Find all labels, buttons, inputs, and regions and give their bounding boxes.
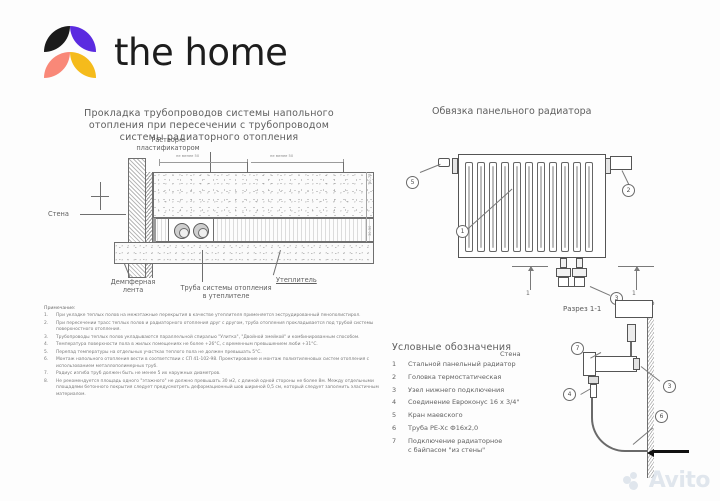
note-number: 8. (44, 379, 51, 398)
legend-item: 7 Подключение радиаторное с байпасом "из… (392, 437, 567, 456)
note-text: Перепад температуры на отдельных участка… (56, 350, 389, 356)
dim-v-text-1: 50-70 (368, 174, 373, 184)
detail-valve-nut (633, 358, 640, 370)
damper-tape-label: Демпферная лента (94, 278, 172, 294)
avito-watermark: Avito (623, 468, 710, 493)
note-text: Трубопроводы теплых полов укладываются п… (56, 335, 389, 341)
detail-valve-body (593, 356, 637, 372)
note-item: 1. При укладке теплых полов на межэтажны… (44, 313, 389, 319)
detail-pe-xc-pipe (591, 398, 647, 452)
legend-text: Стальной панельный радиатор (408, 360, 567, 370)
insulation-label: Утеплитель (276, 276, 317, 284)
legend-number: 7 (392, 437, 399, 456)
legend-number: 2 (392, 373, 399, 383)
supply-stub-left (560, 258, 567, 268)
legend-item: 3 Узел нижнего подключения (392, 386, 567, 396)
floor-heating-section-drawing: Раствор с пластификатором Стена не менее… (44, 100, 374, 310)
legend-item: 1 Стальной панельный радиатор (392, 360, 567, 370)
flow-direction-arrow (653, 450, 689, 453)
callout-bubble-2: 2 (622, 184, 635, 197)
section-cut-bar-left (512, 266, 548, 267)
dim-tick-1 (159, 159, 160, 166)
radiator-fin (477, 162, 485, 252)
notes-block: Примечание: 1. При укладке теплых полов … (44, 306, 389, 399)
note-item: 5. Перепад температуры на отдельных учас… (44, 350, 389, 356)
the-home-logo-icon (44, 26, 96, 78)
radiator-fin (501, 162, 509, 252)
detail-eurocone-top (627, 324, 636, 342)
legend-text: Труба PE-Xc Ф16x2,0 (408, 424, 567, 434)
radiator-body (458, 154, 606, 258)
thermostatic-head-icon (610, 156, 632, 170)
legend-text: Узел нижнего подключения (408, 386, 567, 396)
note-number: 7. (44, 371, 51, 377)
note-number: 4. (44, 342, 51, 348)
note-item: 3. Трубопроводы теплых полов укладываютс… (44, 335, 389, 341)
legend-text: Подключение радиаторное с байпасом "из с… (408, 437, 567, 456)
section-view-label: Разрез 1-1 (563, 305, 601, 313)
radiator-fin (561, 162, 569, 252)
section-cut-bar-right (618, 266, 654, 267)
note-number: 2. (44, 321, 51, 334)
logo-petal-purple (70, 26, 96, 52)
note-text: При пересечении трасс теплых полов и рад… (56, 321, 389, 334)
detail-drop-pipe (630, 342, 632, 356)
callout-bubble-6: 6 (655, 410, 668, 423)
heating-pipe-label: Труба системы отопления в утеплителе (166, 284, 286, 300)
detail-eurocone (588, 376, 599, 384)
callout-bubble-7: 7 (571, 342, 584, 355)
legend-number: 3 (392, 386, 399, 396)
legend-number: 6 (392, 424, 399, 434)
brand-header: the home (44, 26, 287, 78)
connection-base (558, 286, 585, 287)
dim-v-insul (366, 218, 367, 242)
avito-logo-icon (623, 472, 645, 490)
legend-number: 5 (392, 411, 399, 421)
detail-eurocone-body (590, 384, 597, 398)
radiator-assembly-drawing: 5 2 1 3 1 1 (400, 140, 700, 315)
note-number: 5. (44, 350, 51, 356)
radiator-fin (573, 162, 581, 252)
radiator-fin (585, 162, 593, 252)
drawing-page: the home Прокладка трубопроводов системы… (0, 0, 720, 501)
brand-name: the home (114, 31, 287, 74)
note-text: Не рекомендуется площадь одного "этажног… (56, 379, 389, 398)
callout-bubble-1: 1 (456, 225, 469, 238)
radiator-fin (537, 162, 545, 252)
callout-bubble-4: 4 (563, 388, 576, 401)
note-text: Температура поверхности пола в жилых пом… (56, 342, 389, 348)
note-item: 8. Не рекомендуется площадь одного "этаж… (44, 379, 389, 398)
right-drawing-title: Обвязка панельного радиатора (432, 106, 592, 117)
radiator-fin (549, 162, 557, 252)
logo-petal-yellow (70, 52, 96, 78)
wall-leader (80, 214, 126, 215)
note-number: 6. (44, 357, 51, 370)
leader-bubble-3 (590, 286, 611, 296)
notes-heading: Примечание: (44, 306, 389, 311)
section-cut-arrow-left (530, 266, 531, 290)
dim-v-text-2: 30-50 (368, 226, 373, 236)
pipe-circle-2 (193, 223, 209, 239)
legend-text: Головка термостатическая (408, 373, 567, 383)
maevsky-valve-icon (438, 158, 450, 167)
legend-heading: Условные обозначения (392, 342, 567, 353)
base-slab-layer (114, 242, 374, 264)
radiator-left-cap (452, 158, 458, 174)
note-item: 6. Монтаж напольного отопления вести в с… (44, 357, 389, 370)
callout-bubble-3-detail: 3 (663, 380, 676, 393)
mortar-label: Раствор с пластификатором (122, 136, 214, 152)
dim-line-right (251, 162, 343, 163)
dim-text-right: не менее 50 (270, 154, 293, 159)
heating-pipe-leader (202, 250, 203, 282)
section-cut-label-left: 1 (526, 290, 530, 297)
logo-petal-black (44, 26, 70, 52)
damper-tape-strip (153, 218, 156, 242)
legend-block: Условные обозначения 1 Стальной панельны… (392, 342, 567, 459)
legend-item: 4 Соединение Евроконус 16 x 3/4" (392, 398, 567, 408)
legend-item: 5 Кран маевского (392, 411, 567, 421)
note-number: 3. (44, 335, 51, 341)
legend-text: Соединение Евроконус 16 x 3/4" (408, 398, 567, 408)
section-cut-label-right: 1 (632, 290, 636, 297)
section-cut-arrow-right (636, 266, 637, 290)
legend-number: 1 (392, 360, 399, 370)
legend-item: 2 Головка термостатическая (392, 373, 567, 383)
note-item: 4. Температура поверхности пола в жилых … (44, 342, 389, 348)
screed-layer (153, 172, 374, 218)
logo-petal-salmon (44, 52, 70, 78)
dim-line-left (159, 162, 247, 163)
avito-watermark-text: Avito (649, 468, 710, 493)
note-item: 7. Радиус изгиба труб должен быть не мен… (44, 371, 389, 377)
radiator-fin (513, 162, 521, 252)
wall-label: Стена (48, 210, 69, 218)
wall-symbol-bar (91, 196, 109, 197)
pipe-pocket (168, 218, 214, 242)
note-item: 2. При пересечении трасс теплых полов и … (44, 321, 389, 334)
leader-bubble-5 (420, 164, 441, 173)
radiator-fin (465, 162, 473, 252)
note-number: 1. (44, 313, 51, 319)
legend-item: 6 Труба PE-Xc Ф16x2,0 (392, 424, 567, 434)
detail-wall-label: Стена (500, 350, 521, 358)
dim-v-screed (366, 172, 367, 218)
note-text: Радиус изгиба труб должен быть не менее … (56, 371, 389, 377)
legend-text: Кран маевского (408, 411, 567, 421)
leader-bubble-2 (622, 170, 630, 185)
note-text: При укладке теплых полов на межэтажные п… (56, 313, 389, 319)
radiator-fin (525, 162, 533, 252)
detail-radiator-bottom (615, 300, 653, 318)
callout-bubble-5: 5 (406, 176, 419, 189)
pipe-circle-1 (174, 223, 190, 239)
lower-connection-right (572, 268, 587, 277)
dim-text-left: не менее 50 (176, 154, 199, 159)
supply-stub-right (576, 258, 583, 268)
legend-number: 4 (392, 398, 399, 408)
note-text: Монтаж напольного отопления вести в соот… (56, 357, 389, 370)
lower-connection-left (556, 268, 571, 277)
section-detail-drawing: 7 4 3 6 (575, 318, 715, 493)
